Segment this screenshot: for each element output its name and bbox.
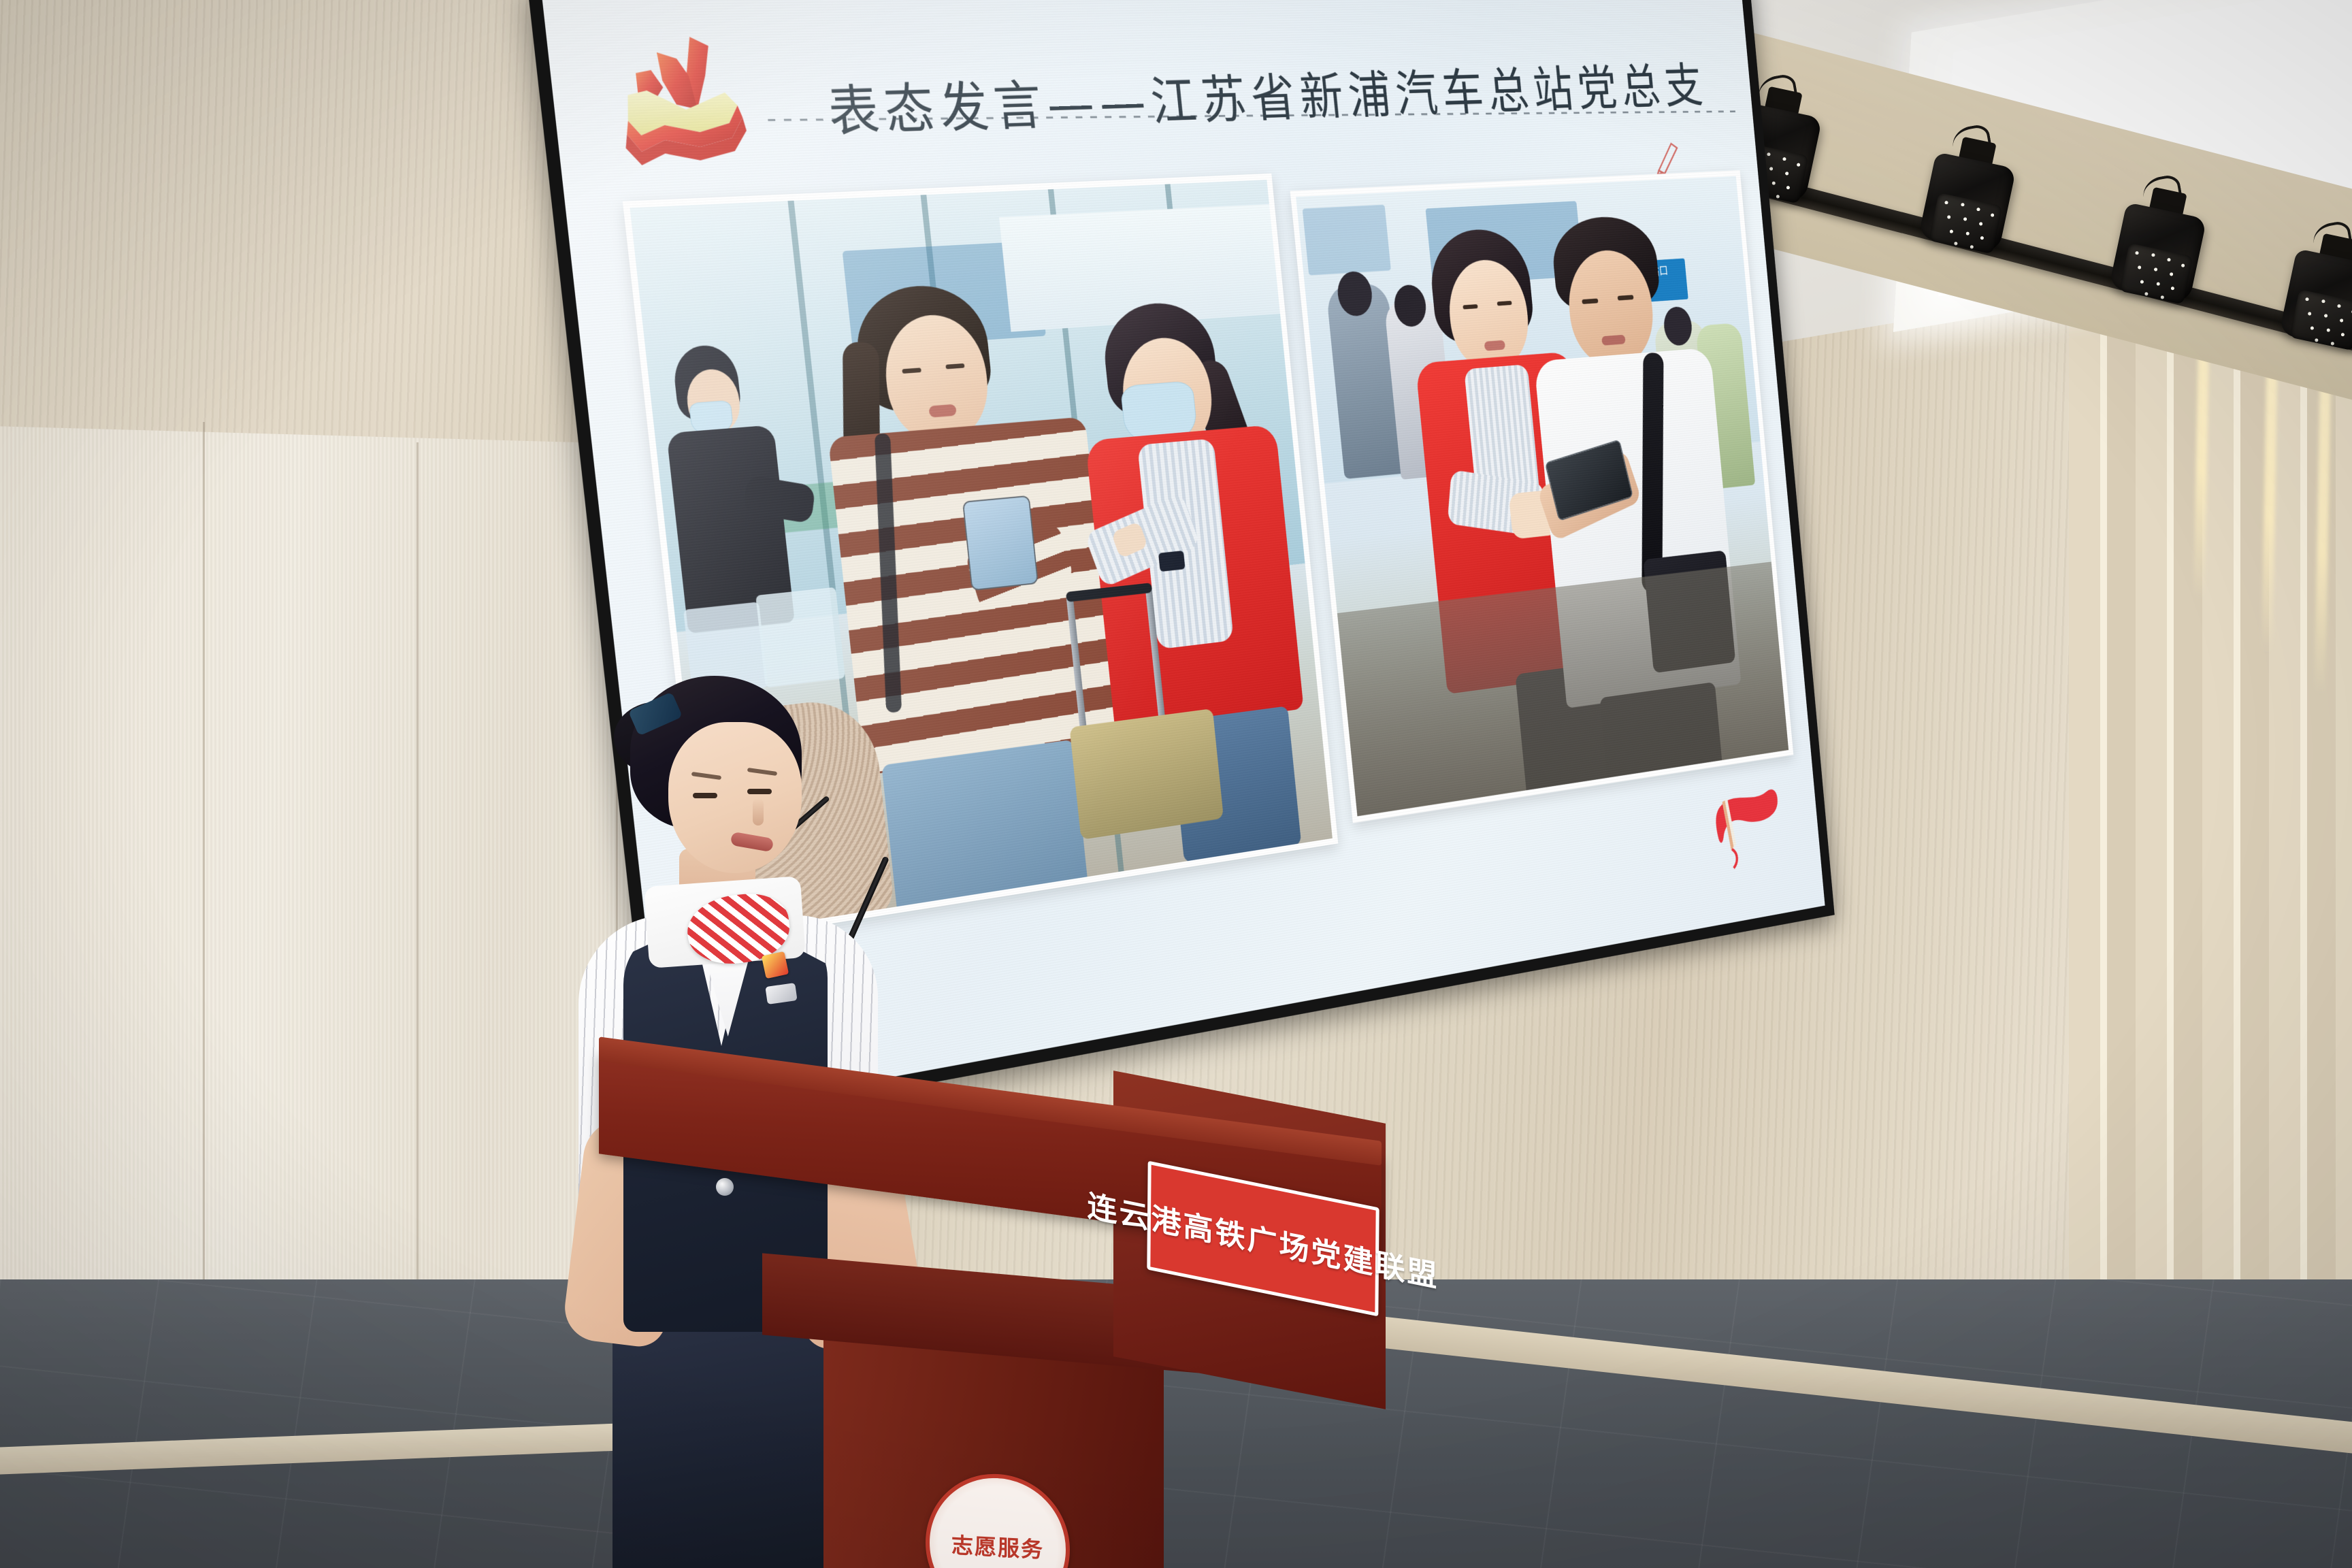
nose	[753, 798, 764, 826]
mouth	[928, 404, 956, 418]
presenter-face	[668, 722, 802, 873]
cpc-hammer-sickle-emblem	[592, 31, 766, 169]
suitcase-handle-rod	[1066, 594, 1087, 732]
light-led-array	[2289, 289, 2352, 350]
party-member-badge	[762, 951, 789, 979]
light-led-array	[1929, 193, 2003, 254]
suitcase-handle-rod	[1145, 585, 1165, 722]
suitcase-body	[1069, 708, 1224, 840]
smartphone	[962, 495, 1039, 591]
volunteer-phone-assistance-photo: 出站口 Exit	[1290, 170, 1794, 823]
slide-title: 表态发言——江苏省新浦汽车总站党总支 李园园	[824, 46, 1735, 146]
podium-seal-text: 志愿服务	[951, 1528, 1044, 1564]
bag-strap	[1641, 352, 1663, 592]
red-flag-icon	[1705, 780, 1789, 876]
mouth	[1484, 340, 1505, 351]
watch	[1158, 551, 1186, 572]
rolling-suitcase	[1056, 578, 1242, 864]
mouth	[1601, 335, 1626, 346]
pen-icon	[1650, 137, 1686, 176]
speaking-podium: 志愿服务 连云港高铁广场党建联盟	[599, 1062, 1402, 1568]
eye	[747, 789, 772, 794]
presentation-hall-scene: 表态发言——江苏省新浦汽车总站党总支 李园园	[0, 0, 2352, 1568]
eye	[693, 793, 717, 798]
station-signage-banner	[1303, 205, 1391, 276]
light-led-array	[2119, 243, 2193, 304]
